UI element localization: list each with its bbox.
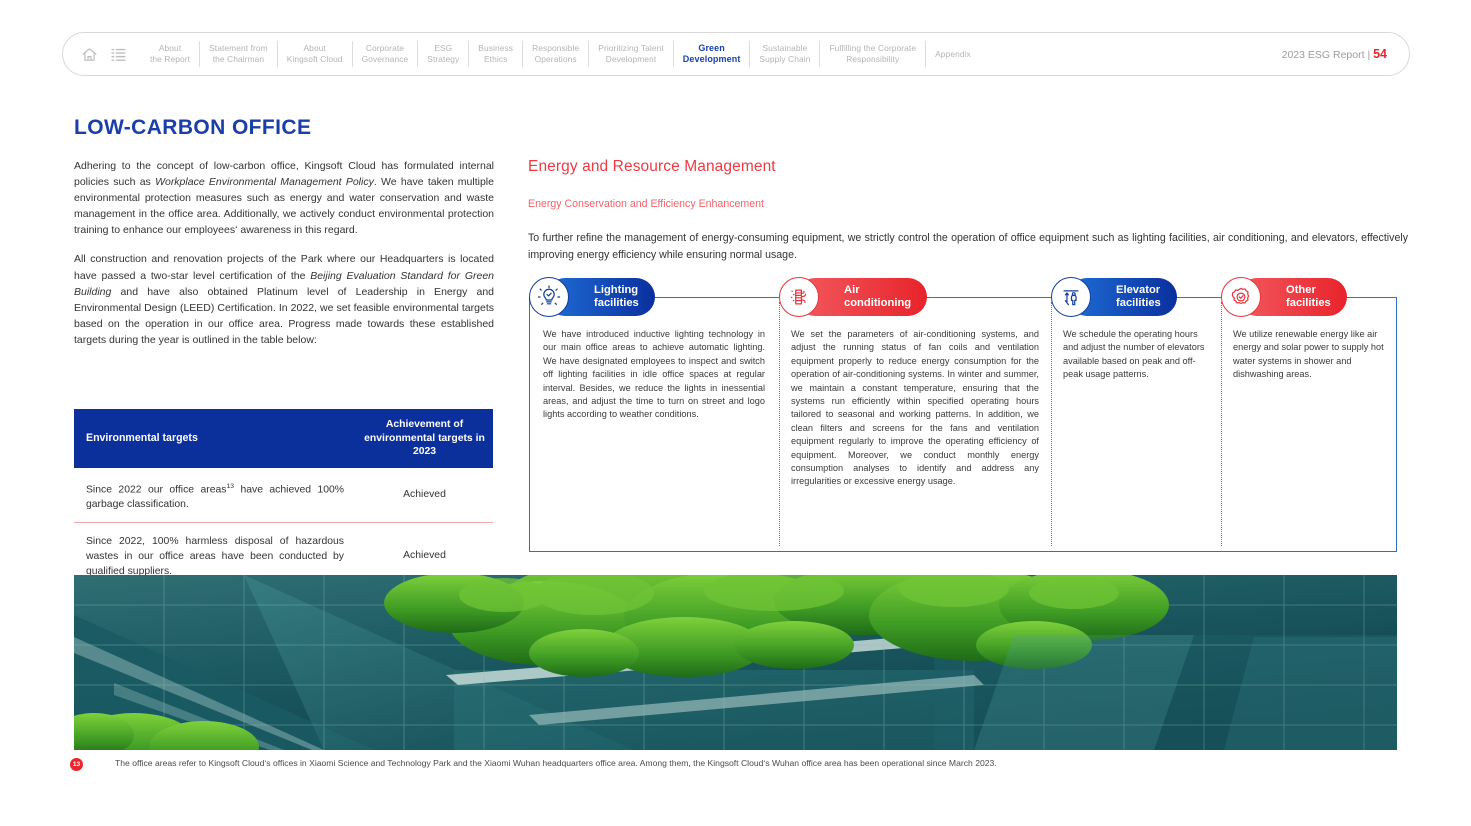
page-number: 54 — [1373, 47, 1387, 61]
environmental-targets-table: Environmental targets Achievement of env… — [74, 409, 493, 590]
nav-item-about-kingsoft-cloud[interactable]: About Kingsoft Cloud — [277, 41, 352, 67]
table-header-row: Environmental targets Achievement of env… — [74, 409, 493, 468]
section-heading-energy-resource-management: Energy and Resource Management — [528, 158, 1408, 176]
home-icon[interactable] — [81, 46, 98, 63]
nav-item-about-the-report[interactable]: About the Report — [141, 41, 199, 67]
card-divider — [1051, 302, 1052, 546]
gear-check-icon — [1221, 277, 1261, 317]
nav-item-prioritizing-talent-development[interactable]: Prioritizing Talent Development — [588, 41, 673, 67]
card-badge: Lighting facilities — [529, 278, 779, 318]
p2-part-b: and have also obtained Platinum level of… — [74, 286, 494, 346]
paragraph-low-carbon-intro: Adhering to the concept of low-carbon of… — [74, 158, 494, 238]
page-title: LOW-CARBON OFFICE — [74, 116, 311, 140]
page-separator: | — [1367, 49, 1370, 61]
nav-item-business-ethics[interactable]: Business Ethics — [468, 41, 522, 67]
report-label: 2023 ESG Report — [1282, 49, 1365, 61]
contents-list-icon[interactable] — [110, 46, 127, 63]
card-body-text: We schedule the operating hours and adju… — [1063, 328, 1209, 382]
footnote-text: The office areas refer to Kingsoft Cloud… — [115, 757, 997, 769]
report-page-indicator: 2023 ESG Report | 54 — [1282, 47, 1409, 61]
nav-item-statement-from-the-chairman[interactable]: Statement from the Chairman — [199, 41, 277, 67]
left-column: Adhering to the concept of low-carbon of… — [74, 158, 494, 361]
card-body-text: We have introduced inductive lighting te… — [543, 328, 765, 422]
card-divider — [1221, 302, 1222, 546]
office-building-photo — [74, 575, 1397, 750]
card-badge: Elevator facilities — [1051, 278, 1221, 318]
card-air-conditioning: Air conditioning We set the parameters o… — [779, 278, 1051, 552]
nav-item-responsible-operations[interactable]: Responsible Operations — [522, 41, 588, 67]
nav-icon-group — [63, 46, 141, 63]
lightbulb-check-icon — [529, 277, 569, 317]
nav-item-esg-strategy[interactable]: ESG Strategy — [417, 41, 468, 67]
nav-items: About the Report Statement from the Chai… — [141, 41, 1282, 67]
table-header-achievement: Achievement of environmental targets in … — [356, 409, 493, 468]
card-body-text: We utilize renewable energy like air ene… — [1233, 328, 1385, 382]
card-body-text: We set the parameters of air-conditionin… — [791, 328, 1039, 489]
footnote: 13 The office areas refer to Kingsoft Cl… — [70, 757, 997, 771]
paragraph-certifications: All construction and renovation projects… — [74, 251, 494, 348]
footnote-ref-13[interactable]: 13 — [226, 483, 234, 490]
nav-item-corporate-governance[interactable]: Corporate Governance — [352, 41, 418, 67]
card-divider — [779, 302, 780, 546]
card-badge: Air conditioning — [779, 278, 1051, 318]
elevator-icon — [1051, 277, 1091, 317]
table-row: Since 2022 our office areas13 have achie… — [74, 468, 493, 523]
nav-item-fulfilling-the-corporate-responsibility[interactable]: Fulfilling the Corporate Responsibility — [819, 41, 925, 67]
air-conditioner-icon — [779, 277, 819, 317]
table-cell-target: Since 2022 our office areas13 have achie… — [74, 468, 356, 522]
card-lighting-facilities: Lighting facilities We have introduced i… — [529, 278, 779, 552]
top-navigation-bar: About the Report Statement from the Chai… — [62, 32, 1410, 76]
p1-policy-title: Workplace Environmental Management Polic… — [155, 176, 374, 188]
card-badge: Other facilities — [1221, 278, 1397, 318]
facilities-cards: Lighting facilities We have introduced i… — [529, 278, 1397, 552]
subsection-heading-energy-conservation: Energy Conservation and Efficiency Enhan… — [528, 198, 1408, 210]
nav-item-appendix[interactable]: Appendix — [925, 41, 980, 67]
card-other-facilities: Other facilities We utilize renewable en… — [1221, 278, 1397, 552]
esg-report-page: About the Report Statement from the Chai… — [0, 0, 1471, 826]
nav-item-sustainable-supply-chain[interactable]: Sustainable Supply Chain — [749, 41, 819, 67]
table-header-environmental-targets: Environmental targets — [74, 409, 356, 468]
card-elevator-facilities: Elevator facilities We schedule the oper… — [1051, 278, 1221, 552]
section-intro-paragraph: To further refine the management of ener… — [528, 230, 1408, 264]
right-column: Energy and Resource Management Energy Co… — [528, 158, 1408, 264]
table-cell-achievement: Achieved — [356, 468, 493, 522]
target-text-a: Since 2022 our office areas — [86, 484, 226, 495]
footnote-marker-icon: 13 — [70, 758, 83, 771]
nav-item-green-development[interactable]: Green Development — [673, 41, 750, 67]
